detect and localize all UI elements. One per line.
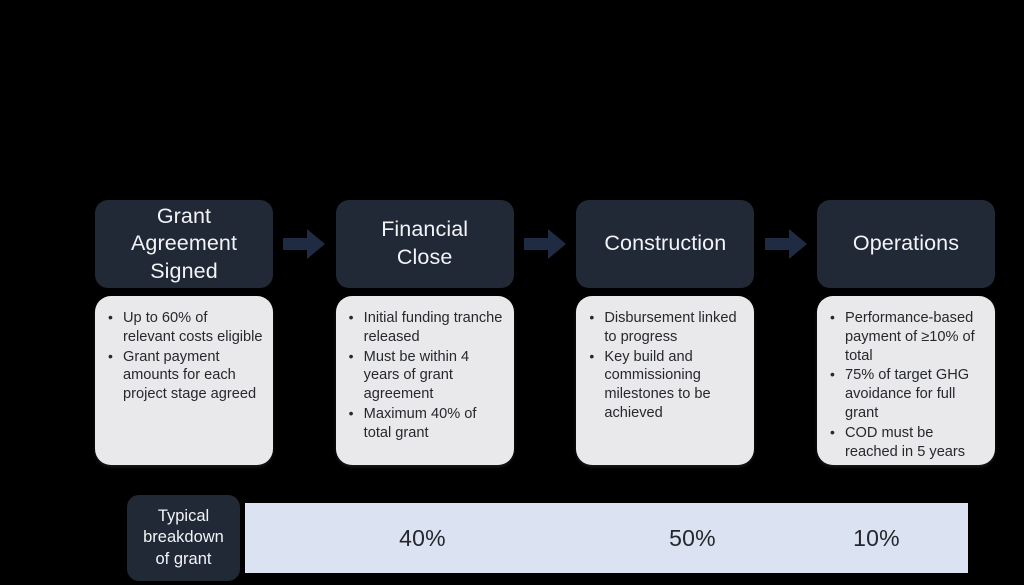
arrow-right-icon xyxy=(765,228,807,260)
card-col-1: Up to 60% of relevant costs eligible Gra… xyxy=(95,296,273,465)
stage-col-4: Operations xyxy=(817,200,995,288)
stage-col-3: Construction xyxy=(576,200,754,288)
arrow-cell-3 xyxy=(754,200,817,288)
bullet-list: Initial funding tranche released Must be… xyxy=(342,309,504,443)
breakdown-label-chip: Typical breakdown of grant xyxy=(127,495,240,581)
stage-header-row: Grant Agreement Signed Financial Close C… xyxy=(95,200,995,288)
arrow-right-icon xyxy=(524,228,566,260)
list-item: Performance-based payment of ≥10% of tot… xyxy=(827,309,985,365)
arrow-cell-2 xyxy=(514,200,577,288)
stage-chip-construction[interactable]: Construction xyxy=(576,200,754,288)
card-col-2: Initial funding tranche released Must be… xyxy=(336,296,514,465)
card-gap-3 xyxy=(754,296,817,465)
detail-card-grant-agreement-signed: Up to 60% of relevant costs eligible Gra… xyxy=(95,296,273,465)
detail-card-financial-close: Initial funding tranche released Must be… xyxy=(336,296,514,465)
arrow-right-icon xyxy=(283,228,325,260)
bullet-list: Disbursement linked to progress Key buil… xyxy=(582,309,744,423)
stage-chip-operations[interactable]: Operations xyxy=(817,200,995,288)
list-item: Initial funding tranche released xyxy=(346,309,504,347)
list-item: Grant payment amounts for each project s… xyxy=(105,348,263,404)
breakdown-segment-operations: 10% xyxy=(785,503,968,573)
card-gap-2 xyxy=(514,296,577,465)
breakdown-bar: 40% 50% 10% xyxy=(245,503,968,573)
list-item: Key build and commissioning milestones t… xyxy=(586,348,744,423)
list-item: Must be within 4 years of grant agreemen… xyxy=(346,348,504,404)
bullet-list: Performance-based payment of ≥10% of tot… xyxy=(823,309,985,462)
breakdown-segment-financial-close: 40% xyxy=(245,503,600,573)
stage-chip-financial-close[interactable]: Financial Close xyxy=(336,200,514,288)
card-col-3: Disbursement linked to progress Key buil… xyxy=(576,296,754,465)
detail-card-operations: Performance-based payment of ≥10% of tot… xyxy=(817,296,995,465)
bullet-list: Up to 60% of relevant costs eligible Gra… xyxy=(101,309,263,404)
stage-chip-grant-agreement-signed[interactable]: Grant Agreement Signed xyxy=(95,200,273,288)
card-gap-1 xyxy=(273,296,336,465)
list-item: 75% of target GHG avoidance for full gra… xyxy=(827,366,985,422)
list-item: COD must be reached in 5 years xyxy=(827,424,985,462)
detail-card-construction: Disbursement linked to progress Key buil… xyxy=(576,296,754,465)
breakdown-segment-construction: 50% xyxy=(600,503,785,573)
stage-detail-row: Up to 60% of relevant costs eligible Gra… xyxy=(95,296,995,465)
list-item: Disbursement linked to progress xyxy=(586,309,744,347)
stage-col-2: Financial Close xyxy=(336,200,514,288)
list-item: Up to 60% of relevant costs eligible xyxy=(105,309,263,347)
stage-col-1: Grant Agreement Signed xyxy=(95,200,273,288)
arrow-cell-1 xyxy=(273,200,336,288)
card-col-4: Performance-based payment of ≥10% of tot… xyxy=(817,296,995,465)
list-item: Maximum 40% of total grant xyxy=(346,405,504,443)
